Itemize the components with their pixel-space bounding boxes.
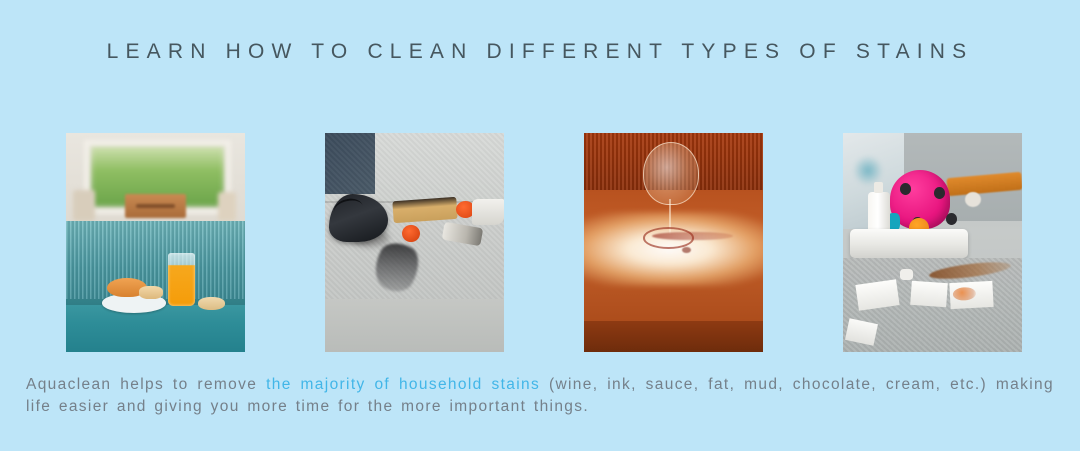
shelf-object-right (218, 192, 236, 220)
sofa-front-edge (325, 299, 504, 352)
napkin-stained (950, 281, 994, 309)
napkin-center (910, 281, 947, 308)
polishing-cloth (472, 199, 504, 225)
page-title: LEARN HOW TO CLEAN DIFFERENT TYPES OF ST… (0, 40, 1080, 64)
white-tray (850, 229, 968, 257)
paragraph-lead: Aquaclean helps to remove (26, 376, 266, 393)
gallery-photo-breakfast-sofa[interactable] (66, 133, 245, 352)
image-gallery (26, 117, 1054, 336)
sofa-front-edge (584, 321, 763, 352)
page-root: LEARN HOW TO CLEAN DIFFERENT TYPES OF ST… (0, 0, 1080, 451)
wooden-box (125, 194, 186, 218)
orange-juice-glass (168, 253, 195, 306)
photo-picnic-tray-sofa-scene (843, 133, 1022, 352)
photo-wine-glass-sofa-scene (584, 133, 763, 352)
gallery-photo-wine-glass-sofa[interactable] (584, 133, 763, 352)
food-crumb (900, 269, 913, 280)
body-paragraph: Aquaclean helps to remove the majority o… (26, 374, 1054, 418)
gallery-photo-shoe-polish-sofa[interactable] (325, 133, 504, 352)
sunlight-patch (584, 212, 763, 286)
paragraph-highlight: the majority of household stains (266, 376, 540, 393)
napkin-left (856, 279, 900, 311)
photo-breakfast-sofa-scene (66, 133, 245, 352)
gallery-photo-picnic-tray-sofa[interactable] (843, 133, 1022, 352)
photo-shoe-polish-sofa-scene (325, 133, 504, 352)
shoe-brush (392, 196, 458, 222)
wine-splash-stain (652, 232, 733, 241)
wine-glass-bowl (643, 142, 699, 205)
shelf-object-left (73, 190, 94, 221)
pastry (139, 286, 162, 299)
